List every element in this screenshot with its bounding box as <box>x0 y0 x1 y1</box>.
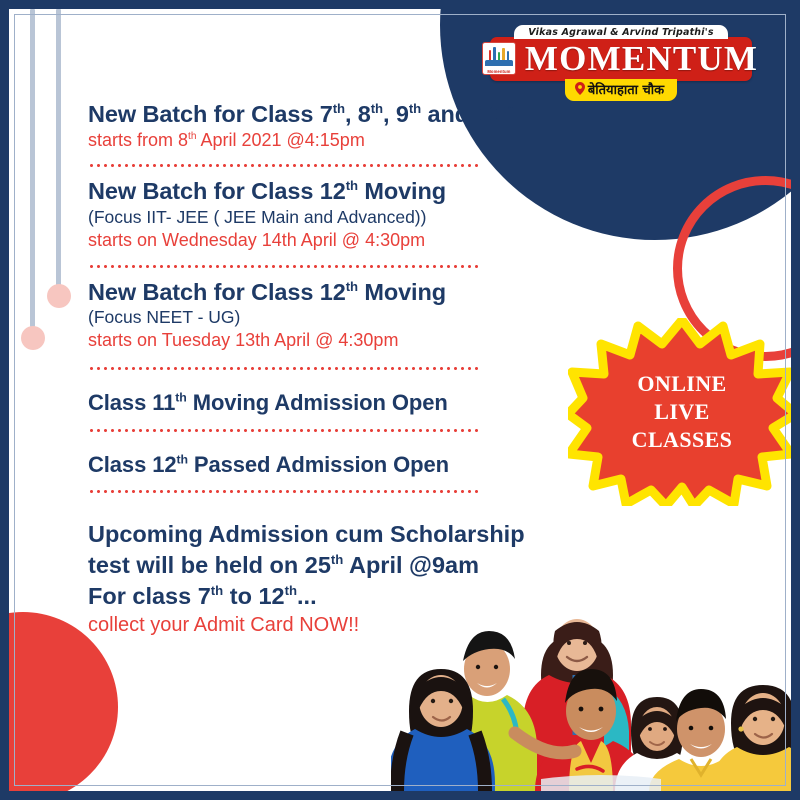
announcement-subtitle: (Focus IIT- JEE ( JEE Main and Advanced)… <box>88 206 568 229</box>
announcement-start-note: starts from 8th April 2021 @4:15pm <box>88 129 568 153</box>
scholarship-line-1: Upcoming Admission cum Scholarship <box>88 519 568 550</box>
ordinal-suffix: th <box>177 452 188 466</box>
pink-dot-decoration-1 <box>21 326 45 350</box>
announcements-list: New Batch for Class 7th, 8th, 9th and 10… <box>88 100 568 639</box>
announcement-class-12-passed: Class 12th Passed Admission Open <box>88 452 568 479</box>
logo-locality-text: बेतियाहाता चौक <box>588 83 664 98</box>
frame-right <box>791 0 800 800</box>
announcement-batch-7-8-9-10: New Batch for Class 7th, 8th, 9th and 10… <box>88 100 568 152</box>
starburst-shape-icon <box>568 318 796 506</box>
scholarship-line-2: test will be held on 25th April @9am <box>88 550 568 581</box>
momentum-monogram-icon: Momentum <box>482 42 516 75</box>
announcement-subtitle: (Focus NEET - UG) <box>88 306 568 329</box>
students-group-photo <box>391 583 791 791</box>
vertical-line-decoration-2 <box>56 8 61 288</box>
frame-top <box>0 0 800 9</box>
logo-tagline: Vikas Agrawal & Arvind Tripathi's <box>514 25 727 39</box>
ordinal-suffix: th <box>285 584 297 599</box>
announcement-heading: New Batch for Class 12th Moving <box>88 177 568 206</box>
announcement-heading: Class 12th Passed Admission Open <box>88 452 568 479</box>
location-pin-icon <box>575 82 585 99</box>
logo-locality-banner: बेतियाहाता चौक <box>565 79 677 101</box>
announcement-batch-12-iit-jee: New Batch for Class 12th Moving (Focus I… <box>88 177 568 252</box>
students-illustration <box>391 583 791 791</box>
ordinal-suffix: th <box>175 390 186 404</box>
ordinal-suffix: th <box>333 101 345 116</box>
logo-bar: Momentum MOMENTUM <box>490 37 752 81</box>
announcement-class-11-moving: Class 11th Moving Admission Open <box>88 390 568 417</box>
announcement-heading: New Batch for Class 12th Moving <box>88 278 568 307</box>
ordinal-suffix: th <box>346 179 358 194</box>
vertical-line-decoration-1 <box>30 8 35 328</box>
pink-dot-decoration-2 <box>47 284 71 308</box>
logo-wordmark: MOMENTUM <box>525 41 758 76</box>
announcement-heading: New Batch for Class 7th, 8th, 9th and 10… <box>88 100 568 129</box>
monogram-label: Momentum <box>483 69 515 74</box>
brand-logo: Vikas Agrawal & Arvind Tripathi's Moment… <box>490 22 752 101</box>
frame-bottom <box>0 791 800 800</box>
ordinal-suffix: th <box>371 101 383 116</box>
announcement-start-note: starts on Wednesday 14th April @ 4:30pm <box>88 229 568 253</box>
promotional-poster: Vikas Agrawal & Arvind Tripathi's Moment… <box>0 0 800 800</box>
announcement-batch-12-neet: New Batch for Class 12th Moving (Focus N… <box>88 278 568 353</box>
ordinal-suffix: th <box>331 553 343 568</box>
ordinal-suffix: th <box>211 584 223 599</box>
red-half-circle-decoration <box>0 612 118 800</box>
online-live-classes-badge: ONLINE LIVE CLASSES <box>568 318 796 506</box>
ordinal-suffix: th <box>346 279 358 294</box>
announcement-heading: Class 11th Moving Admission Open <box>88 390 568 417</box>
ordinal-suffix: th <box>501 101 513 116</box>
announcement-start-note: starts on Tuesday 13th April @ 4:30pm <box>88 329 568 353</box>
frame-left <box>0 0 9 800</box>
ordinal-suffix: th <box>409 101 421 116</box>
